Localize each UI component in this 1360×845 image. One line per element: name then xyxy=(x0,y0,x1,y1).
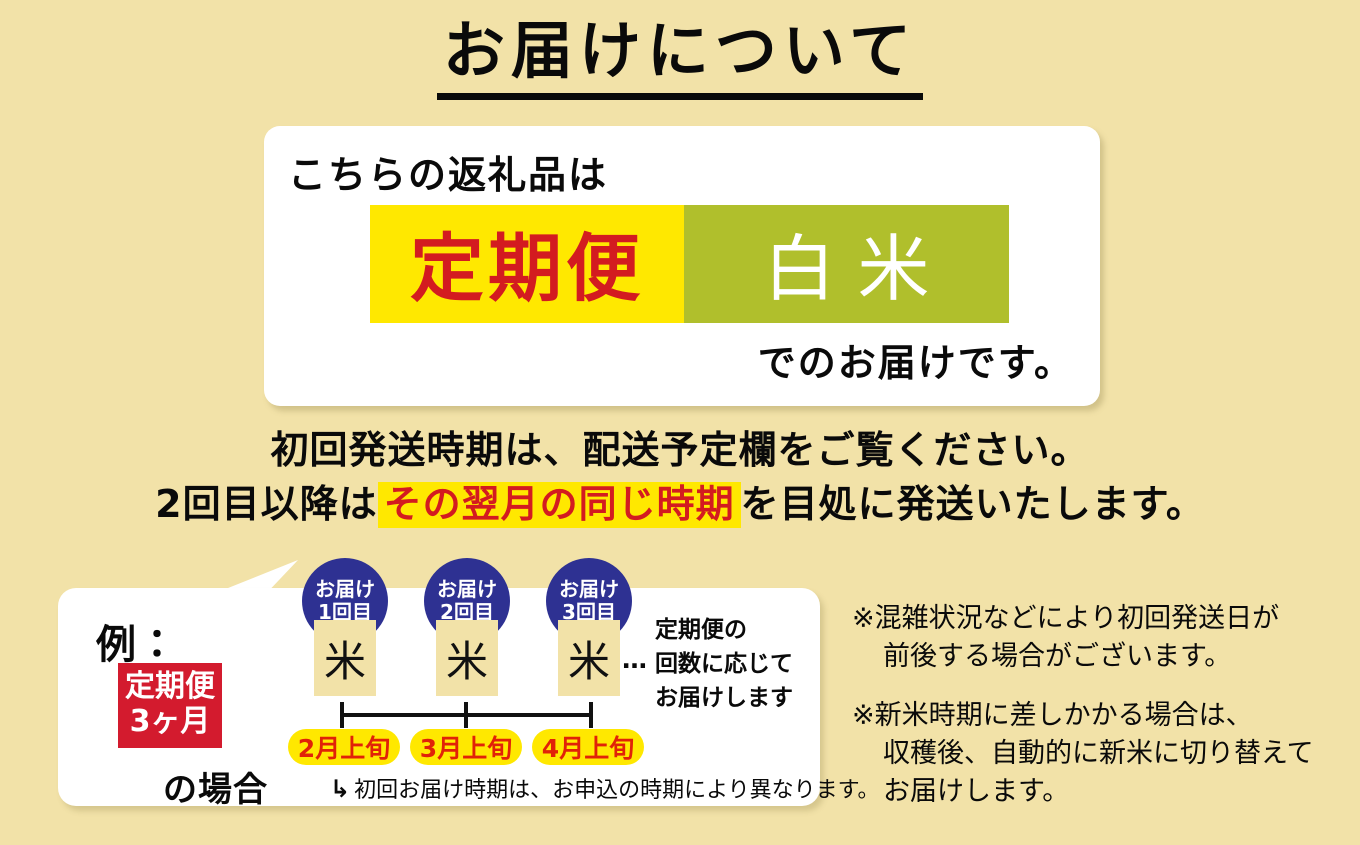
card-tail-text: でのお届けです。 xyxy=(758,332,1074,387)
instruction-line-2-prefix: 2回目以降は xyxy=(155,482,377,526)
page-title-wrapper: お届けについて xyxy=(0,18,1360,100)
timeline-tick-1 xyxy=(340,702,344,728)
delivery-circle-3-line-1: お届け xyxy=(559,578,619,601)
note-2-line-1: ※新米時期に差しかかる場合は、 xyxy=(852,697,1352,735)
instructions-block: 初回発送時期は、配送予定欄をご覧ください。 2回目以降はその翌月の同じ時期を目処… xyxy=(0,424,1360,532)
example-plan-line-2: 3ヶ月 xyxy=(122,704,218,739)
delivery-circle-1-line-1: お届け xyxy=(315,578,375,601)
delivery-timeline xyxy=(340,713,593,717)
first-delivery-note-text: 初回お届け時期は、お申込の時期により異なります。 xyxy=(354,778,879,803)
note-1-line-2: 前後する場合がございます。 xyxy=(852,638,1352,676)
timeline-tick-2 xyxy=(464,702,468,728)
page-title: お届けについて xyxy=(437,18,923,100)
month-pill-3: 4月上旬 xyxy=(532,729,644,765)
rice-bag-icon-3: 米 xyxy=(558,620,620,696)
note-2-line-2: 収穫後、自動的に新米に切り替えて xyxy=(852,735,1352,773)
example-case-text: の場合 xyxy=(163,762,268,811)
ellipsis-icon: … xyxy=(622,645,649,674)
delivery-count-note-line-3: お届けします xyxy=(655,681,793,715)
delivery-count-note-line-2: 回数に応じて xyxy=(655,647,793,681)
rice-bag-icon-2: 米 xyxy=(436,620,498,696)
delivery-circle-2-line-1: お届け xyxy=(437,578,497,601)
note-block-2: ※新米時期に差しかかる場合は、 収穫後、自動的に新米に切り替えて お届けします。 xyxy=(852,697,1352,812)
asterisk-notes: ※混雑状況などにより初回発送日が 前後する場合がございます。 ※新米時期に差しか… xyxy=(852,600,1352,832)
badge-white-rice: 白米 xyxy=(684,205,1009,323)
example-plan-badge: 定期便 3ヶ月 xyxy=(118,663,222,748)
rice-bag-icon-1: 米 xyxy=(314,620,376,696)
arrow-down-right-icon: ↳ xyxy=(330,775,354,803)
note-block-1: ※混雑状況などにより初回発送日が 前後する場合がございます。 xyxy=(852,600,1352,677)
month-pill-1: 2月上旬 xyxy=(288,729,400,765)
month-pill-2: 3月上旬 xyxy=(410,729,522,765)
instruction-line-1: 初回発送時期は、配送予定欄をご覧ください。 xyxy=(0,424,1360,478)
note-1-line-1: ※混雑状況などにより初回発送日が xyxy=(852,600,1352,638)
badge-row: 定期便 白米 xyxy=(370,205,1009,323)
delivery-count-note-line-1: 定期便の xyxy=(655,613,793,647)
example-label: 例： xyxy=(96,612,178,670)
example-plan-line-1: 定期便 xyxy=(122,669,218,704)
card-lead-text: こちらの返礼品は xyxy=(288,144,608,199)
instruction-highlight: その翌月の同じ時期 xyxy=(378,482,741,528)
badge-subscription: 定期便 xyxy=(370,205,684,323)
first-delivery-note: ↳初回お届け時期は、お申込の時期により異なります。 xyxy=(330,772,879,804)
timeline-tick-3 xyxy=(589,702,593,728)
instruction-line-2-suffix: を目処に発送いたします。 xyxy=(741,482,1205,526)
instruction-line-2: 2回目以降はその翌月の同じ時期を目処に発送いたします。 xyxy=(0,478,1360,532)
delivery-count-note: 定期便の 回数に応じて お届けします xyxy=(655,613,793,715)
product-summary-card: こちらの返礼品は 定期便 白米 でのお届けです。 xyxy=(264,126,1100,406)
note-2-line-3: お届けします。 xyxy=(852,773,1352,811)
